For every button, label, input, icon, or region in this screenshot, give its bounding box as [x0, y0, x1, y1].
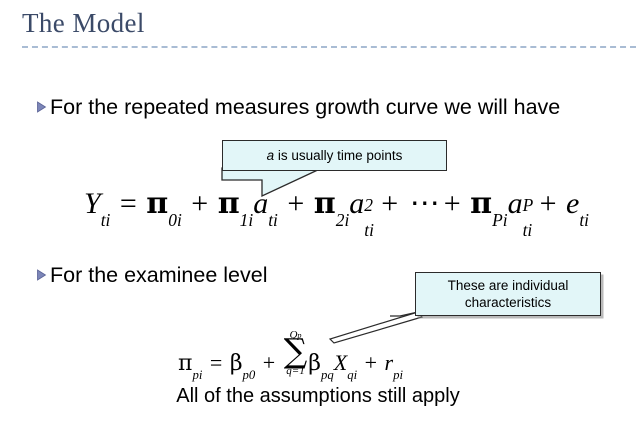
slide-canvas: The Model For the repeated measures grow… — [0, 0, 636, 423]
callout-b-line2: characteristics — [465, 294, 551, 311]
bullet-item-examinee-level: For the examinee level — [36, 262, 436, 289]
title-divider — [22, 46, 636, 48]
equation-level-1: Yti = π0i + π1iati + π2ia2ti + ⋯+ πPiaPt… — [84, 186, 589, 221]
triangle-right-icon — [36, 262, 50, 281]
page-title: The Model — [22, 8, 145, 39]
footer-note: All of the assumptions still apply — [0, 385, 636, 408]
callout-a-text: a is usually time points — [267, 147, 403, 164]
triangle-right-icon — [36, 94, 50, 113]
callout-a-time-points: a is usually time points — [222, 140, 447, 171]
bullet-label: For the repeated measures growth curve w… — [50, 94, 560, 121]
callout-a-italic-var: a — [267, 148, 275, 163]
callout-individual-characteristics: These are individual characteristics — [415, 272, 601, 316]
callout-a-rest: is usually time points — [274, 148, 402, 163]
summation-operator: Qp∑q=1 — [284, 330, 308, 372]
bullet-label: For the examinee level — [50, 262, 268, 289]
callout-b-line1: These are individual — [448, 277, 569, 294]
bullet-item-growth-curve: For the repeated measures growth curve w… — [36, 94, 581, 121]
equation-level-2: πpi = βp0 + Qp∑q=1βpqXqi + rpi — [178, 330, 403, 376]
